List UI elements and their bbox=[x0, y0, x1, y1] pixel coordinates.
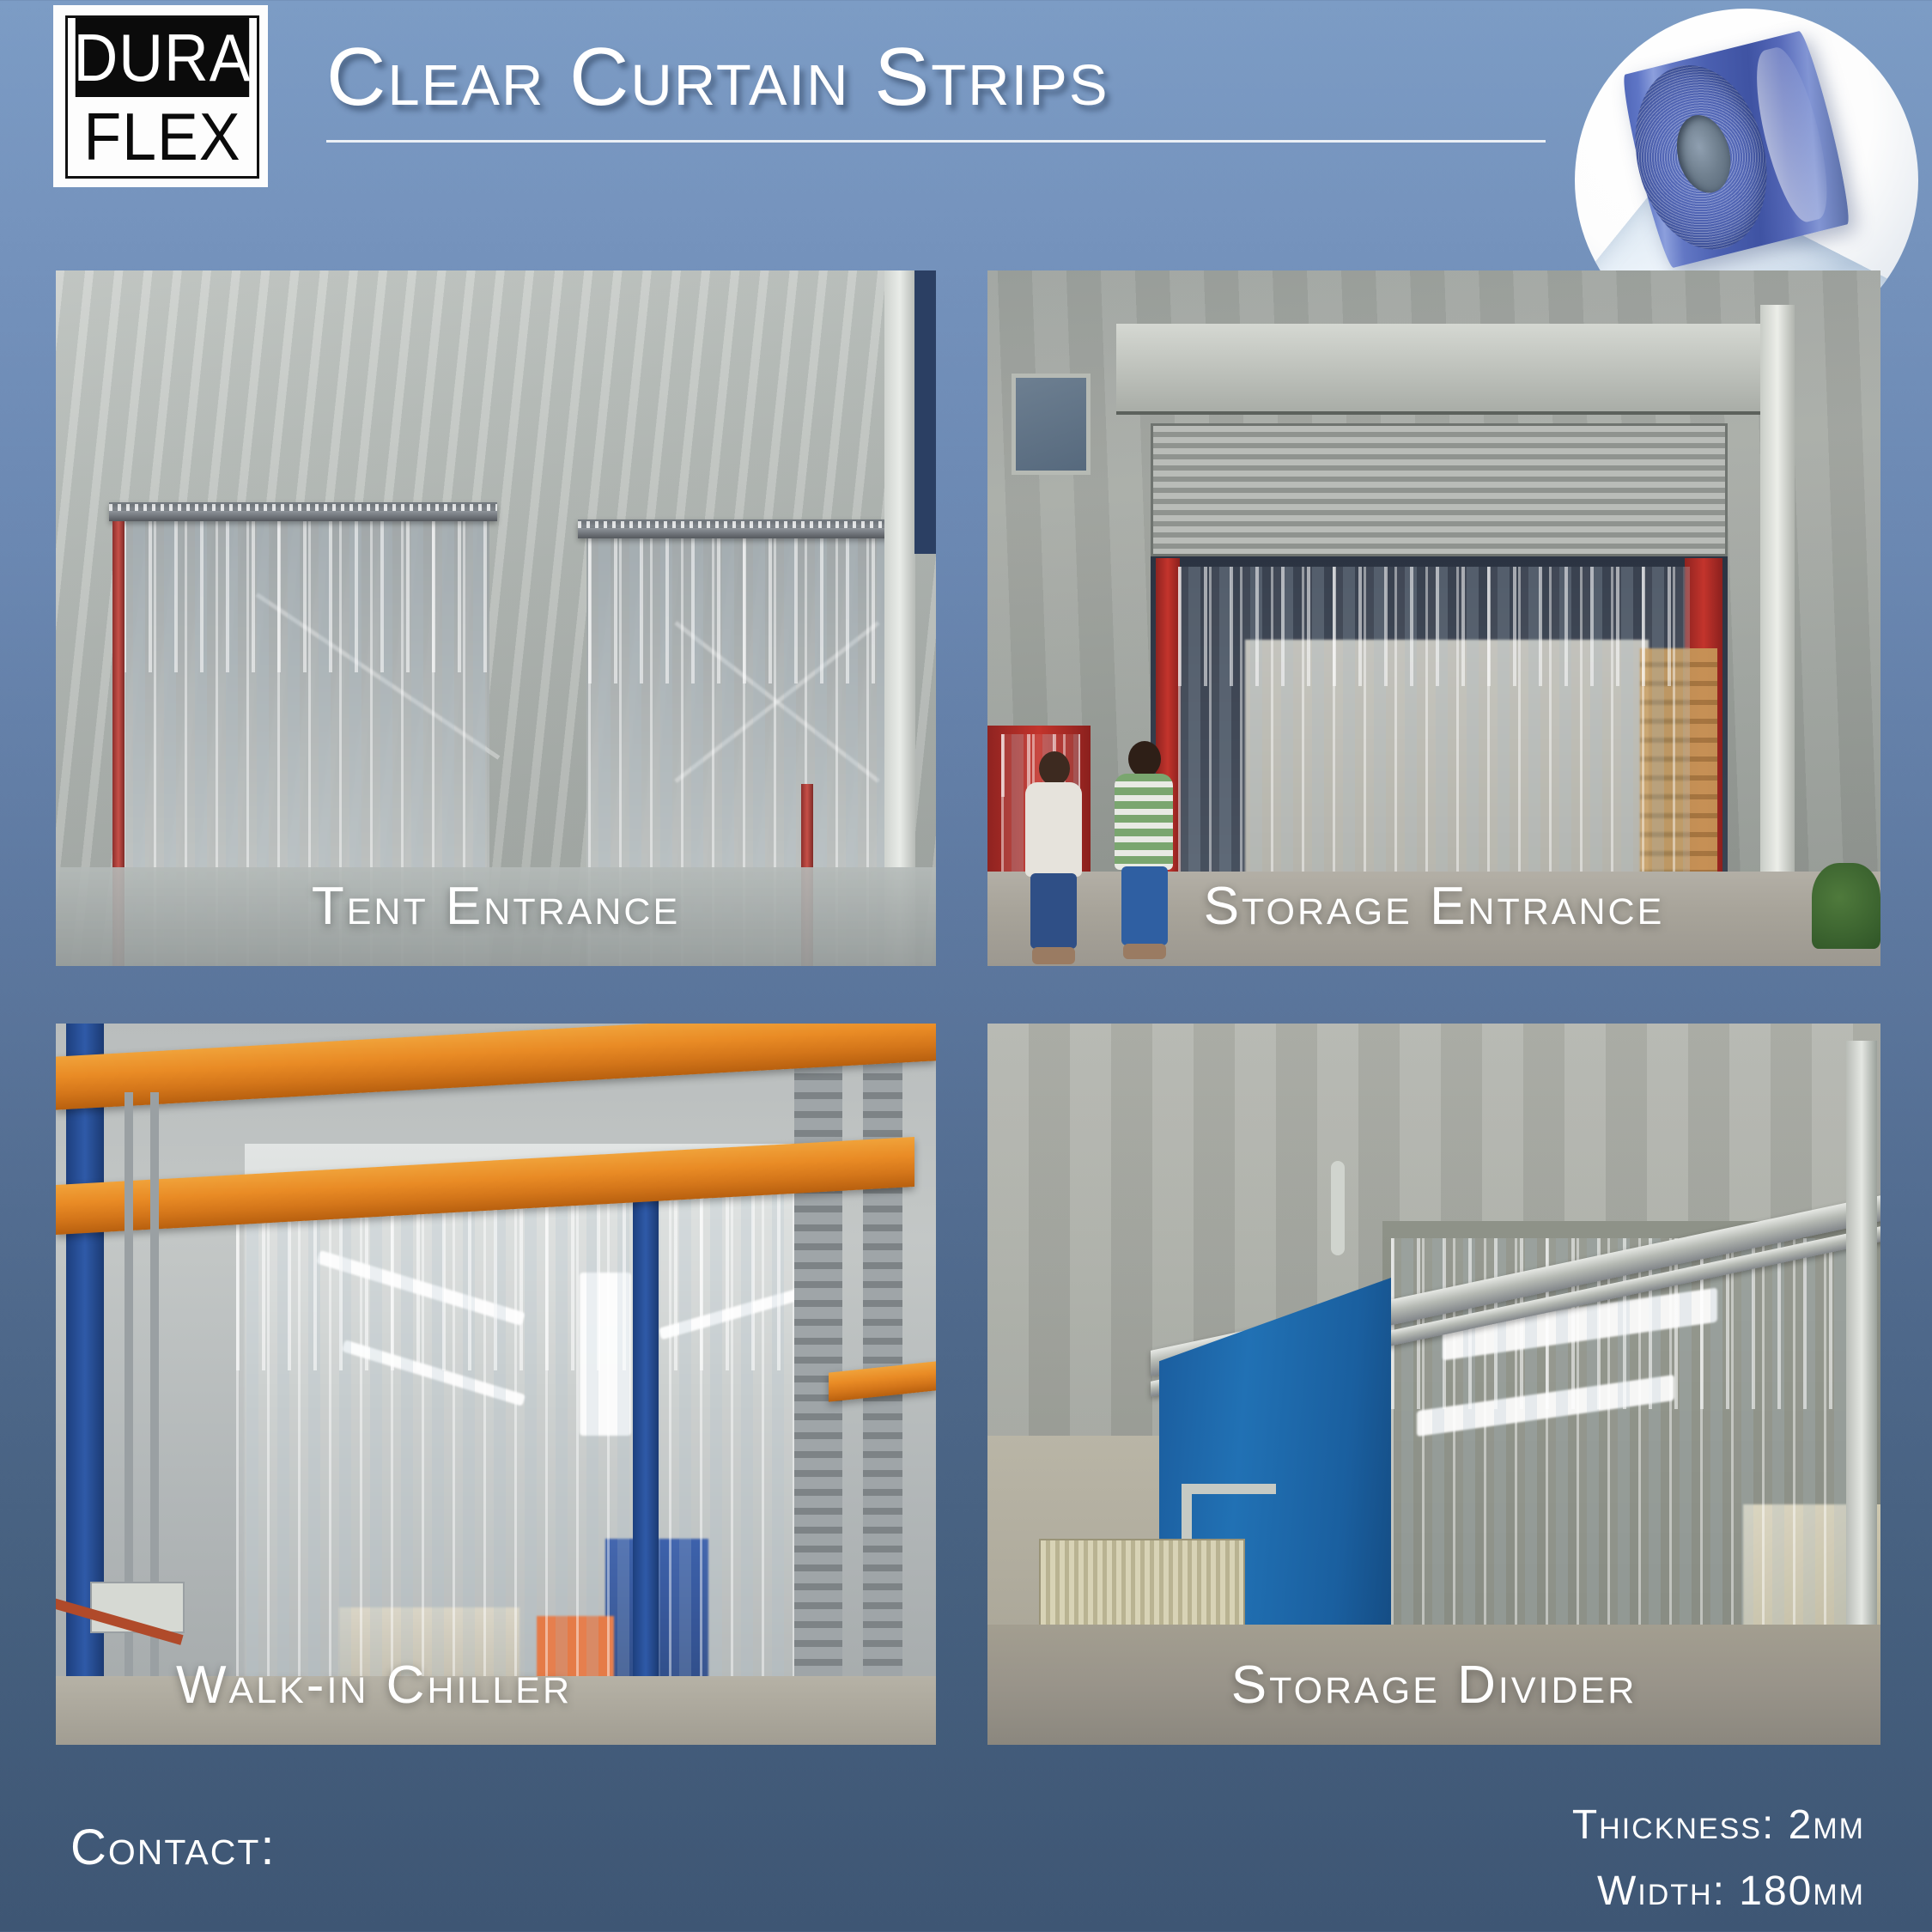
gallery-caption-storage-divider: Storage Divider bbox=[987, 1655, 1880, 1716]
person-left-shirt bbox=[1025, 782, 1082, 877]
person-right-feet bbox=[1123, 944, 1166, 959]
door-lintel bbox=[1116, 324, 1769, 415]
curtain-rail-left bbox=[109, 502, 497, 521]
tent-pole bbox=[884, 270, 915, 966]
wall-window bbox=[1012, 374, 1091, 475]
spec-width: Width: 180mm bbox=[1572, 1868, 1865, 1915]
walk-in-chiller-scene bbox=[56, 1024, 936, 1745]
gallery-caption-tent-entrance: Tent Entrance bbox=[56, 876, 936, 937]
header: DURA FLEX Clear Curtain Strips bbox=[0, 0, 1932, 258]
person-left-feet bbox=[1032, 947, 1075, 964]
roller-shutter bbox=[1151, 423, 1728, 556]
title-block: Clear Curtain Strips bbox=[326, 34, 1597, 143]
gallery-caption-walk-in-chiller: Walk-in Chiller bbox=[56, 1655, 936, 1716]
pvc-strip-curtain-bay bbox=[1178, 567, 1690, 917]
background-shadow-right bbox=[914, 270, 936, 554]
contact-label: Contact: bbox=[70, 1819, 276, 1876]
curtain-rail-right bbox=[578, 519, 914, 538]
door-hanger-bracket bbox=[1331, 1161, 1345, 1255]
gallery-photo-storage-divider[interactable]: Storage Divider bbox=[987, 1024, 1880, 1745]
storage-entrance-scene bbox=[987, 270, 1880, 966]
product-specs: Thickness: 2mm Width: 180mm bbox=[1572, 1801, 1865, 1932]
downpipe bbox=[1760, 305, 1795, 923]
title-divider bbox=[326, 140, 1546, 143]
gallery-photo-walk-in-chiller[interactable]: Walk-in Chiller bbox=[56, 1024, 936, 1745]
gallery-caption-storage-entrance: Storage Entrance bbox=[987, 876, 1880, 937]
person-right-head bbox=[1128, 741, 1161, 777]
page-title: Clear Curtain Strips bbox=[326, 34, 1597, 121]
gallery-photo-tent-entrance[interactable]: Tent Entrance bbox=[56, 270, 936, 966]
storage-divider-scene bbox=[987, 1024, 1880, 1745]
logo-frame: DURA FLEX bbox=[65, 15, 259, 179]
rack-upright-left bbox=[66, 1024, 104, 1745]
tent-entrance-scene bbox=[56, 270, 936, 966]
spec-thickness: Thickness: 2mm bbox=[1572, 1801, 1865, 1849]
gallery-photo-storage-entrance[interactable]: Storage Entrance bbox=[987, 270, 1880, 966]
logo-word-dura: DURA bbox=[76, 18, 249, 97]
brand-logo: DURA FLEX bbox=[53, 5, 268, 187]
door-handle-bar bbox=[1182, 1484, 1276, 1494]
logo-word-flex: FLEX bbox=[76, 97, 249, 176]
person-right-shirt bbox=[1115, 774, 1173, 870]
person-left-head bbox=[1039, 751, 1070, 786]
